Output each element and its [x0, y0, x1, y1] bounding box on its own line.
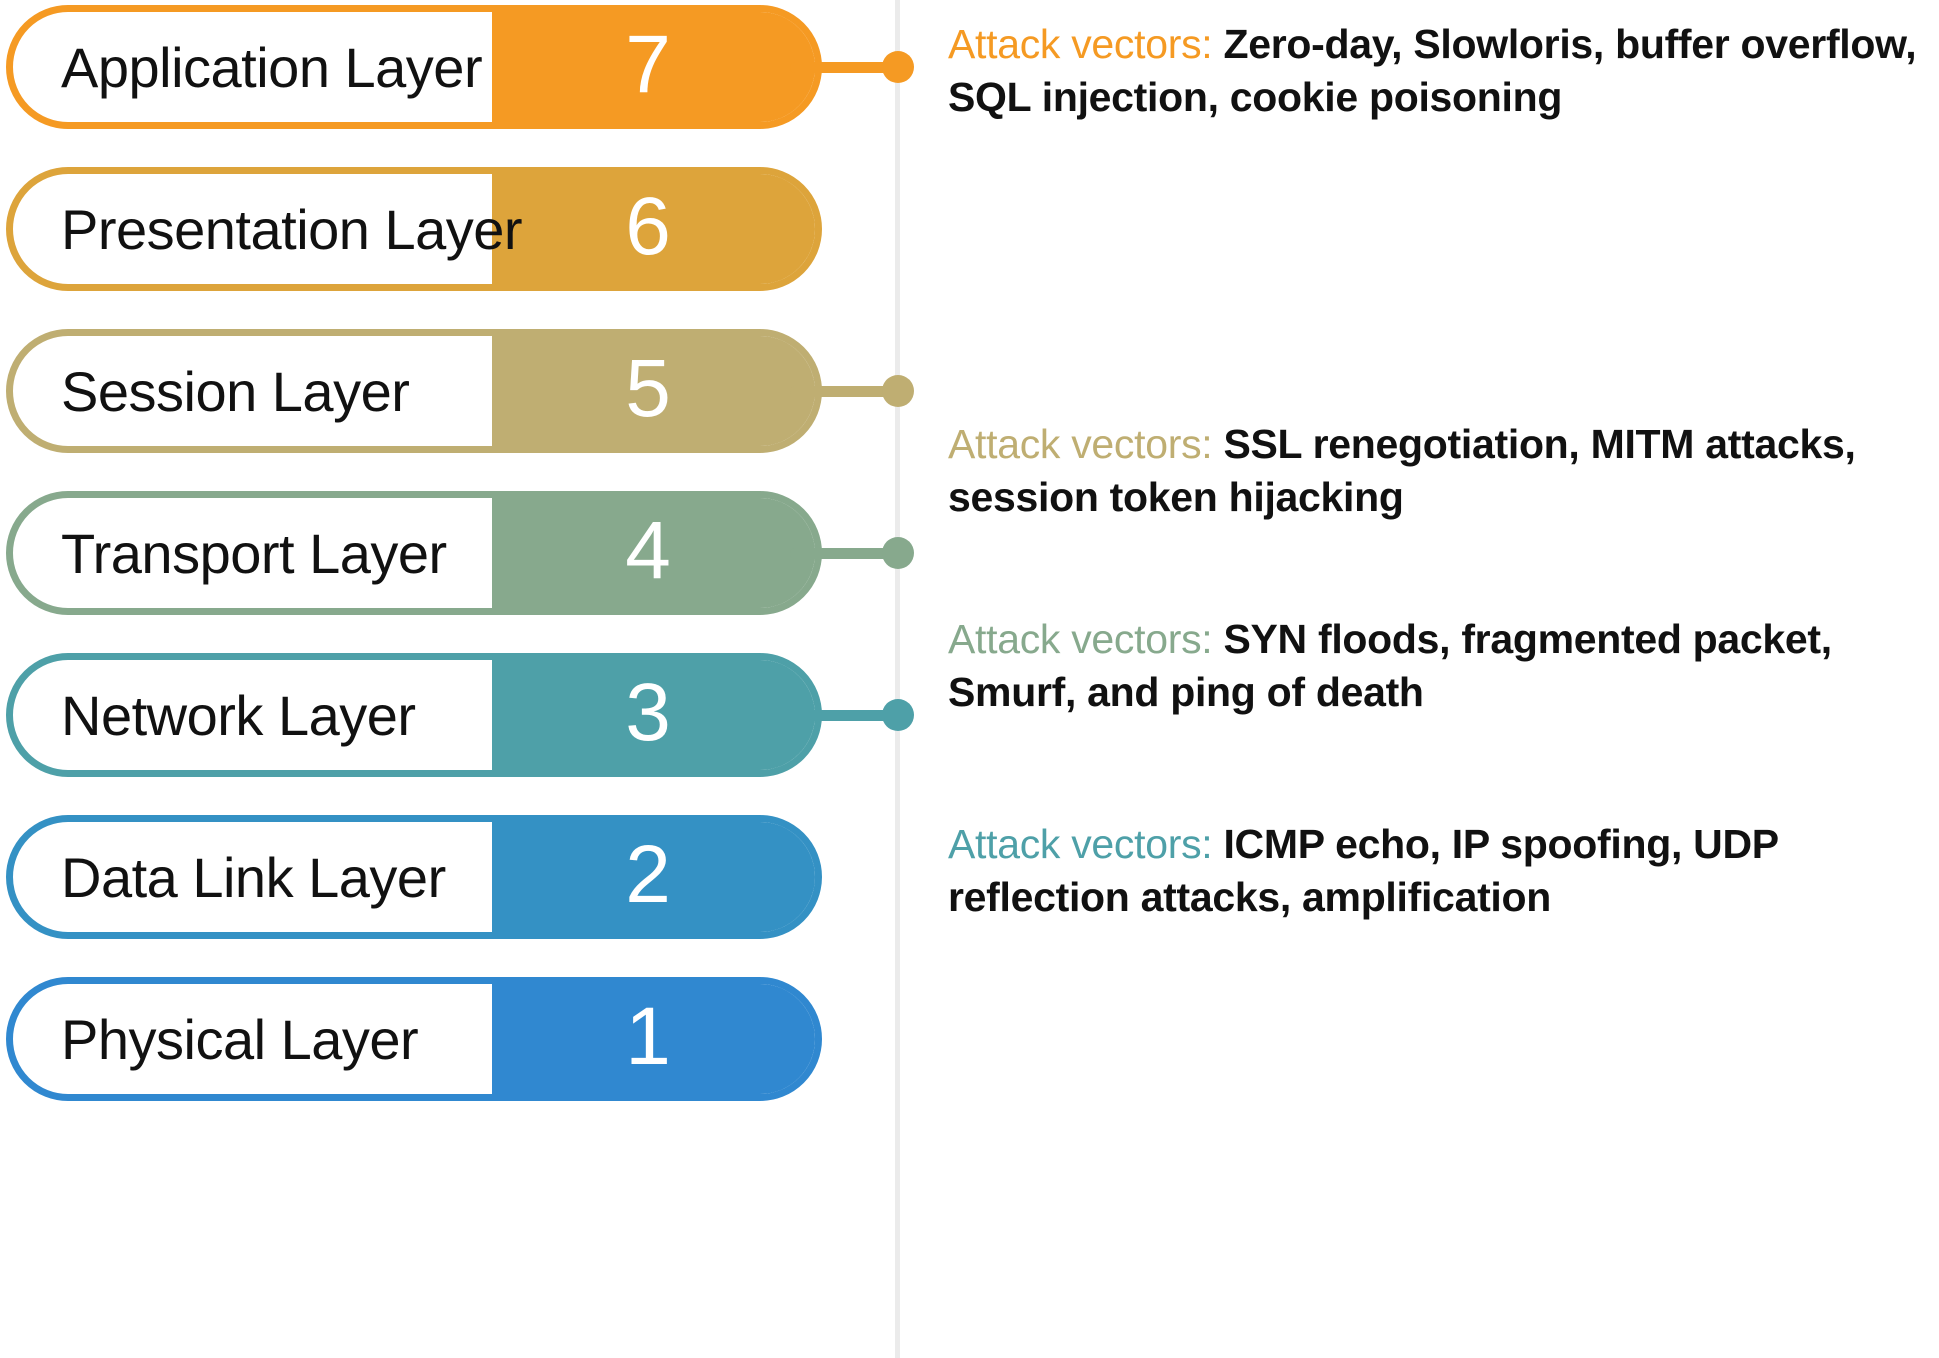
- layer-number: 1: [625, 996, 671, 1078]
- callout-connector-dot: [882, 375, 914, 407]
- layer-number: 7: [625, 24, 671, 106]
- attack-vectors-label: Attack vectors:: [948, 421, 1212, 467]
- attack-vectors-label: Attack vectors:: [948, 616, 1212, 662]
- layer-name: Physical Layer: [61, 984, 581, 1094]
- layer-name: Presentation Layer: [61, 174, 581, 284]
- layer-number: 5: [625, 348, 671, 430]
- attack-vectors-label: Attack vectors:: [948, 21, 1212, 67]
- layer-number: 3: [625, 672, 671, 754]
- layer-pill[interactable]: 5Session Layer: [6, 329, 822, 453]
- layer-name: Network Layer: [61, 660, 581, 770]
- attack-vector-callout: Attack vectors: SYN floods, fragmented p…: [948, 613, 1939, 720]
- callout-connector-dot: [882, 537, 914, 569]
- vertical-divider-rail: [895, 0, 900, 1358]
- layer-number: 4: [625, 510, 671, 592]
- layer-pill[interactable]: 4Transport Layer: [6, 491, 822, 615]
- layer-name: Application Layer: [61, 12, 581, 122]
- layer-pill[interactable]: 2Data Link Layer: [6, 815, 822, 939]
- attack-vector-callout: Attack vectors: SSL renegotiation, MITM …: [948, 418, 1939, 525]
- layer-pill[interactable]: 7Application Layer: [6, 5, 822, 129]
- layer-pill[interactable]: 3Network Layer: [6, 653, 822, 777]
- layer-name: Transport Layer: [61, 498, 581, 608]
- layer-number: 2: [625, 834, 671, 916]
- attack-vector-callout: Attack vectors: Zero-day, Slowloris, buf…: [948, 18, 1939, 125]
- callout-connector-dot: [882, 699, 914, 731]
- layer-number: 6: [625, 186, 671, 268]
- osi-attack-vector-diagram: 7Application Layer6Presentation Layer5Se…: [0, 0, 1939, 1358]
- attack-vector-callout: Attack vectors: ICMP echo, IP spoofing, …: [948, 818, 1939, 925]
- layer-name: Data Link Layer: [61, 822, 581, 932]
- callout-connector-dot: [882, 51, 914, 83]
- layer-pill[interactable]: 6Presentation Layer: [6, 167, 822, 291]
- layer-name: Session Layer: [61, 336, 581, 446]
- layer-pill[interactable]: 1Physical Layer: [6, 977, 822, 1101]
- attack-vectors-label: Attack vectors:: [948, 821, 1212, 867]
